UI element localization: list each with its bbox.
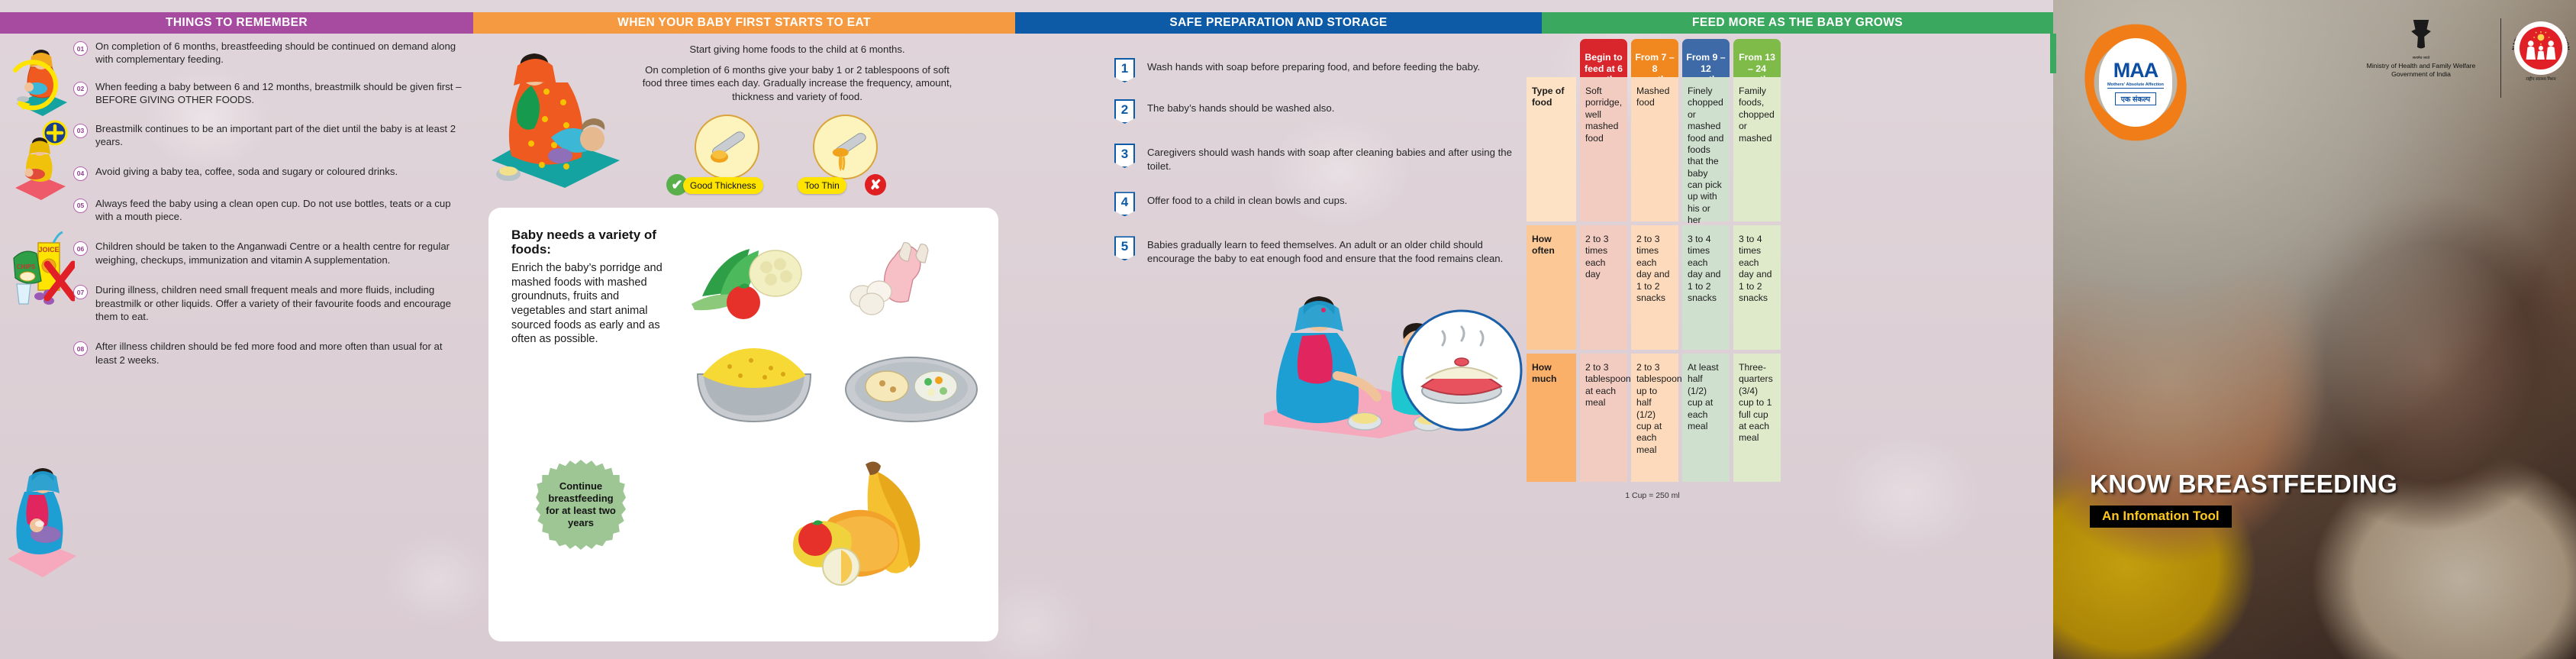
card-heading: Baby needs a variety of foods: — [511, 228, 675, 257]
illustration-mother-spoon-feeding — [481, 46, 626, 191]
cell-often-9-12-months: 3 to 4 times each day and 1 to 2 snacks — [1682, 225, 1730, 350]
step-number-shield: 5 — [1114, 236, 1135, 260]
tip-item: 08 After illness children should be fed … — [73, 340, 464, 367]
tips-list: 01 On completion of 6 months, breastfeed… — [73, 40, 464, 380]
tip-text: Avoid giving a baby tea, coffee, soda an… — [95, 165, 398, 178]
column-safe-preparation: 1 Wash hands with soap before preparing … — [1015, 34, 1542, 659]
step-text: Offer food to a child in clean bowls and… — [1147, 192, 1347, 208]
tip-text: Children should be taken to the Anganwad… — [95, 240, 464, 267]
svg-text:JOICE: JOICE — [38, 246, 59, 254]
table-body: Type of food Soft porridge, well mashed … — [1527, 77, 1781, 482]
nhm-logo: NATIONAL HEALTH MISSION राष — [2511, 21, 2571, 82]
green-accent-nub — [2050, 34, 2056, 73]
safe-prep-step: 5 Babies gradually learn to feed themsel… — [1114, 236, 1527, 265]
cell-much-13-24-months: Three-quarters (3/4) cup to 1 full cup a… — [1733, 354, 1781, 482]
illustration-vegetables — [684, 231, 829, 330]
safe-prep-step: 3 Caregivers should wash hands with soap… — [1114, 144, 1527, 173]
poster-root: THINGS TO REMEMBER WHEN YOUR BABY FIRST … — [0, 0, 2576, 659]
step-number-shield: 3 — [1114, 144, 1135, 168]
maa-logo-tagline: Mothers' Absolute Affection — [2107, 82, 2164, 89]
tip-number: 04 — [73, 166, 88, 181]
cell-often-6-months: 2 to 3 times each day — [1580, 225, 1627, 350]
cell-much-7-8-months: 2 to 3 tablespoons up to half (1/2) cup … — [1631, 354, 1678, 482]
illustration-bowl-of-khichdi — [685, 338, 823, 437]
lead-line-2: On completion of 6 months give your baby… — [635, 63, 959, 104]
cell-often-7-8-months: 2 to 3 times each day and 1 to 2 snacks — [1631, 225, 1678, 350]
row-label-how-much: How much — [1527, 354, 1576, 482]
tip-number: 01 — [73, 41, 88, 56]
row-label-how-often: How often — [1527, 225, 1576, 350]
illustration-mother-feeding-teal — [11, 44, 72, 128]
poster-subtitle: An Infomation Tool — [2090, 506, 2232, 528]
emblem-caption: सत्यमेव जयते — [2357, 56, 2485, 60]
poster-title: KNOW BREASTFEEDING — [2090, 470, 2397, 499]
column-when-baby-first-eats: Start giving home foods to the child at … — [473, 34, 1015, 659]
tip-item: 05 Always feed the baby using a clean op… — [73, 197, 464, 224]
card-body: Enrich the baby’s porridge and mashed fo… — [511, 261, 675, 347]
safe-prep-step: 1 Wash hands with soap before preparing … — [1114, 58, 1527, 82]
column-things-to-remember: JOICE CHIPS — [0, 34, 473, 659]
cell-often-13-24-months: 3 to 4 times each day and 1 to 2 snacks — [1733, 225, 1781, 350]
photo-panel: MAA Mothers' Absolute Affection एक संकल्… — [2053, 0, 2576, 659]
logo-divider — [2500, 18, 2501, 98]
table-footnote: 1 Cup = 250 ml — [1527, 491, 1778, 500]
step-text: The baby’s hands should be washed also. — [1147, 99, 1334, 115]
maa-logo-wordmark: MAA — [2113, 60, 2158, 81]
too-thin-label: Too Thin — [798, 177, 846, 194]
tip-number: 03 — [73, 124, 88, 138]
tip-item: 04 Avoid giving a baby tea, coffee, soda… — [73, 165, 464, 181]
nhm-family-icon — [2514, 21, 2568, 75]
india-emblem-icon — [2408, 20, 2434, 53]
thickness-comparison: ✔ Good Thickness Too Thin ✘ — [660, 115, 966, 199]
first-eat-lead-text: Start giving home foods to the child at … — [635, 43, 959, 103]
good-thickness-label: Good Thickness — [683, 177, 763, 194]
table-row-how-often: How often 2 to 3 times each day 2 to 3 t… — [1527, 225, 1781, 350]
illustration-mother-blue-sari — [6, 461, 79, 583]
variety-of-foods-card: Baby needs a variety of foods: Enrich th… — [488, 208, 998, 641]
illustration-covered-food — [1397, 305, 1527, 435]
tip-number: 07 — [73, 285, 88, 299]
table-row-how-much: How much 2 to 3 tablespoons at each meal… — [1527, 354, 1781, 482]
header-safe-preparation: SAFE PREPARATION AND STORAGE — [1015, 12, 1542, 34]
safe-prep-steps-list: 1 Wash hands with soap before preparing … — [1114, 58, 1527, 283]
safe-prep-step: 2 The baby’s hands should be washed also… — [1114, 99, 1527, 124]
step-text: Babies gradually learn to feed themselve… — [1147, 236, 1527, 265]
tip-item: 03 Breastmilk continues to be an importa… — [73, 122, 464, 149]
tip-number: 08 — [73, 341, 88, 356]
table-row-type-of-food: Type of food Soft porridge, well mashed … — [1527, 77, 1781, 221]
step-text: Wash hands with soap before preparing fo… — [1147, 58, 1480, 74]
cell-much-9-12-months: At least half (1/2) cup at each meal — [1682, 354, 1730, 482]
tip-text: On completion of 6 months, breastfeeding… — [95, 40, 464, 66]
safe-prep-step: 4 Offer food to a child in clean bowls a… — [1114, 192, 1527, 216]
good-thickness-circle — [695, 115, 759, 179]
header-band-row: THINGS TO REMEMBER WHEN YOUR BABY FIRST … — [0, 12, 2053, 34]
tip-number: 06 — [73, 241, 88, 256]
step-number-shield: 1 — [1114, 58, 1135, 82]
tip-number: 02 — [73, 82, 88, 96]
cross-icon: ✘ — [865, 174, 886, 195]
cell-type-9-12-months: Finely chopped or mashed food and foods … — [1682, 77, 1730, 221]
row-label-type-of-food: Type of food — [1527, 77, 1576, 221]
illustration-mother-feeding-pink — [11, 134, 72, 209]
header-when-baby-first-eats: WHEN YOUR BABY FIRST STARTS TO EAT — [473, 12, 1015, 34]
tip-item: 01 On completion of 6 months, breastfeed… — [73, 40, 464, 66]
tip-text: Breastmilk continues to be an important … — [95, 122, 464, 149]
maa-logo: MAA Mothers' Absolute Affection एक संकल्… — [2085, 21, 2186, 144]
continue-breastfeeding-badge: Continue breastfeeding for at least two … — [536, 460, 626, 550]
maa-logo-hindi-tagline: एक संकल्प — [2115, 92, 2156, 105]
step-text: Caregivers should wash hands with soap a… — [1147, 144, 1527, 173]
cell-type-6-months: Soft porridge, well mashed food — [1580, 77, 1627, 221]
cell-type-7-8-months: Mashed food — [1631, 77, 1678, 221]
illustration-eggs-and-chicken — [847, 234, 969, 325]
tip-item: 02 When feeding a baby between 6 and 12 … — [73, 80, 464, 107]
column-feed-more-table: Begin to feed at 6 months From 7 – 8 mon… — [1542, 34, 2053, 659]
cell-much-6-months: 2 to 3 tablespoons at each meal — [1580, 354, 1627, 482]
illustration-avoid-junk-drinks: JOICE CHIPS — [9, 225, 75, 305]
tip-item: 07 During illness, children need small f… — [73, 283, 464, 323]
too-thin-circle — [813, 115, 878, 179]
step-number-shield: 2 — [1114, 99, 1135, 124]
tip-number: 05 — [73, 199, 88, 213]
tip-item: 06 Children should be taken to the Angan… — [73, 240, 464, 267]
illustration-thali-plate — [843, 342, 980, 434]
cell-type-13-24-months: Family foods, chopped or mashed — [1733, 77, 1781, 221]
tip-text: When feeding a baby between 6 and 12 mon… — [95, 80, 464, 107]
tip-text: During illness, children need small freq… — [95, 283, 464, 323]
nhm-logo-circle — [2514, 21, 2568, 75]
step-number-shield: 4 — [1114, 192, 1135, 216]
government-logo-block: सत्यमेव जयते Ministry of Health and Fami… — [2357, 20, 2485, 79]
ministry-line-2: Government of India — [2357, 70, 2485, 79]
illustration-fruits — [740, 437, 969, 590]
tip-text: After illness children should be fed mor… — [95, 340, 464, 367]
header-things-to-remember: THINGS TO REMEMBER — [0, 12, 473, 34]
maa-logo-inner: MAA Mothers' Absolute Affection एक संकल्… — [2099, 38, 2172, 127]
svg-text:CHIPS: CHIPS — [17, 263, 36, 270]
tip-text: Always feed the baby using a clean open … — [95, 197, 464, 224]
lead-line-1: Start giving home foods to the child at … — [635, 43, 959, 57]
header-feed-more: FEED MORE AS THE BABY GROWS — [1542, 12, 2053, 34]
ministry-line-1: Ministry of Health and Family Welfare — [2357, 62, 2485, 70]
